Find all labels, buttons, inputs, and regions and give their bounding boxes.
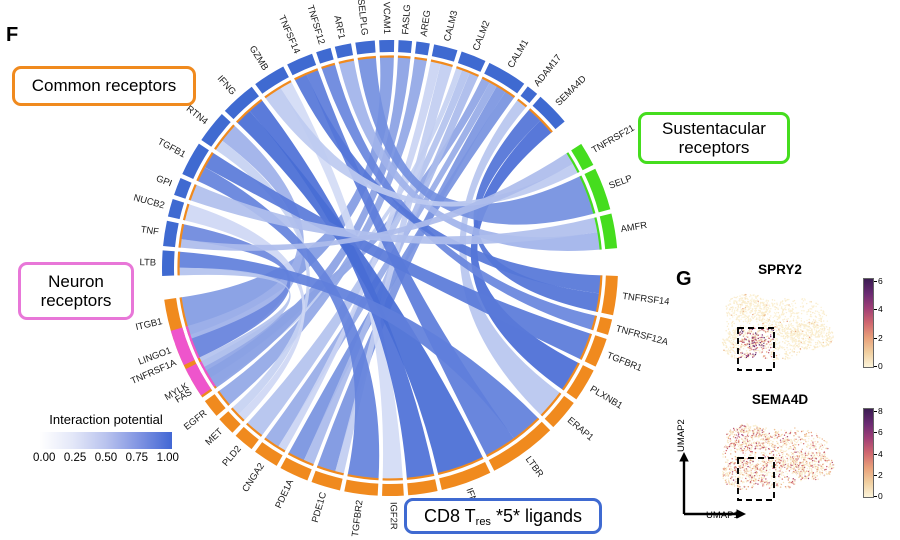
chord-sector-areg[interactable] — [415, 42, 430, 56]
umap-cell-point — [739, 436, 740, 437]
umap-cell-point — [814, 457, 815, 458]
umap-cell-point — [824, 453, 825, 454]
umap-cell-point — [732, 316, 733, 317]
umap-cell-point — [765, 438, 766, 439]
umap-cell-point — [760, 315, 761, 316]
umap-cell-point — [796, 313, 797, 314]
umap-cell-point — [772, 460, 773, 461]
umap-cell-point — [764, 453, 765, 454]
chord-sector-arf1[interactable] — [335, 43, 353, 58]
umap-cell-point — [778, 431, 779, 432]
umap-cell-point — [805, 340, 806, 341]
umap-cell-point — [782, 319, 783, 320]
umap-cell-point — [749, 448, 750, 449]
umap-cell-point — [765, 442, 766, 443]
colorbar-tick: 0 — [878, 361, 883, 371]
umap-cell-point — [818, 340, 819, 341]
umap-cell-point — [744, 301, 745, 302]
umap-cell-point — [825, 471, 826, 472]
umap-cell-point — [754, 302, 755, 303]
umap-cell-point — [817, 304, 818, 305]
umap-cell-point — [794, 432, 795, 433]
umap-cell-point — [804, 457, 805, 458]
umap-cell-point — [759, 430, 760, 431]
umap-cell-point — [833, 467, 834, 468]
umap-cell-point — [788, 299, 789, 300]
umap-cell-point — [816, 331, 817, 332]
umap-cell-point — [778, 348, 779, 349]
umap-cell-point — [831, 468, 832, 469]
umap-cell-point — [804, 435, 805, 436]
umap-cell-point — [775, 323, 776, 324]
umap-cell-point — [750, 344, 751, 345]
umap-cell-point — [795, 456, 796, 457]
umap-cell-point — [802, 430, 803, 431]
umap-cell-point — [822, 339, 823, 340]
umap-cell-point — [813, 319, 814, 320]
umap-cell-point — [787, 485, 788, 486]
umap-cell-point — [785, 486, 786, 487]
umap-cell-point — [776, 303, 777, 304]
umap-cell-point — [734, 355, 735, 356]
umap-cell-point — [730, 314, 731, 315]
umap-cell-point — [813, 447, 814, 448]
colorbar-ticks: 02468 — [874, 408, 898, 496]
umap-cell-point — [765, 322, 766, 323]
umap-cell-point — [788, 328, 789, 329]
chord-sector-adam17[interactable] — [520, 86, 537, 103]
umap-cell-point — [777, 442, 778, 443]
umap-cell-point — [740, 448, 741, 449]
umap-cell-point — [749, 329, 750, 330]
umap-cell-point — [742, 331, 743, 332]
umap-cell-point — [814, 458, 815, 459]
umap-cell-point — [822, 312, 823, 313]
umap-cell-point — [794, 337, 795, 338]
chord-label-areg: AREG — [418, 9, 433, 37]
umap-cell-point — [771, 437, 772, 438]
umap-cell-point — [803, 459, 804, 460]
umap-cell-point — [733, 323, 734, 324]
umap-cell-point — [761, 346, 762, 347]
umap-cell-point — [732, 307, 733, 308]
chord-sector-amfr[interactable] — [600, 214, 617, 250]
umap-cell-point — [728, 436, 729, 437]
umap-cell-point — [769, 317, 770, 318]
umap-cell-point — [781, 452, 782, 453]
umap-cell-point — [748, 339, 749, 340]
umap-cell-point — [733, 339, 734, 340]
umap-cell-point — [807, 455, 808, 456]
umap-cell-point — [796, 340, 797, 341]
umap-cell-point — [723, 339, 724, 340]
umap-cell-point — [732, 330, 733, 331]
umap-cell-point — [801, 469, 802, 470]
umap-cell-point — [810, 332, 811, 333]
umap-cell-point — [792, 442, 793, 443]
umap-cell-point — [779, 459, 780, 460]
umap-cell-point — [812, 441, 813, 442]
umap-cell-point — [798, 344, 799, 345]
umap-cell-point — [731, 314, 732, 315]
umap-cell-point — [789, 326, 790, 327]
umap-cell-point — [743, 354, 744, 355]
umap-cell-point — [787, 433, 788, 434]
umap-cell-point — [734, 332, 735, 333]
callout-ligands: CD8 Tres *5* ligands — [404, 498, 602, 534]
umap-cell-point — [792, 338, 793, 339]
chord-sector-faslg[interactable] — [398, 40, 412, 53]
umap-cell-point — [795, 466, 796, 467]
chord-sector-tnf[interactable] — [163, 221, 179, 247]
umap-cell-point — [794, 449, 795, 450]
chord-sector-tnfrsf12a[interactable] — [597, 317, 613, 335]
umap-cell-point — [773, 488, 774, 489]
umap-cell-point — [775, 331, 776, 332]
umap-cell-point — [819, 331, 820, 332]
umap-cell-point — [745, 327, 746, 328]
umap-cell-point — [775, 464, 776, 465]
umap-cell-point — [756, 434, 757, 435]
umap-cell-point — [757, 312, 758, 313]
umap-cell-point — [811, 432, 812, 433]
umap-cell-point — [763, 447, 764, 448]
umap-cell-point — [778, 334, 779, 335]
umap-cell-point — [783, 313, 784, 314]
umap-cell-point — [740, 325, 741, 326]
umap-cell-point — [798, 444, 799, 445]
umap-cell-point — [775, 482, 776, 483]
umap-cell-point — [787, 441, 788, 442]
chord-inner-band — [380, 55, 394, 57]
umap-cell-point — [821, 331, 822, 332]
umap-cell-point — [825, 441, 826, 442]
umap-cell-point — [746, 438, 747, 439]
umap-cell-point — [794, 464, 795, 465]
umap-cell-point — [750, 307, 751, 308]
chord-sector-tgfbr2[interactable] — [344, 480, 378, 496]
chord-sector-ltb[interactable] — [162, 250, 175, 276]
umap-cell-point — [769, 487, 770, 488]
umap-cell-point — [778, 475, 779, 476]
umap-cell-point — [797, 458, 798, 459]
umap-cell-point — [771, 445, 772, 446]
umap-cell-point — [777, 319, 778, 320]
chord-label-selp: SELP — [607, 172, 633, 191]
umap-cell-point — [741, 329, 742, 330]
umap-cell-point — [754, 328, 755, 329]
umap-cell-point — [786, 334, 787, 335]
umap-cell-point — [746, 426, 747, 427]
umap-cell-point — [763, 452, 764, 453]
umap-cell-point — [806, 478, 807, 479]
umap-cell-point — [785, 437, 786, 438]
umap-cell-point — [819, 464, 820, 465]
umap-cell-point — [795, 439, 796, 440]
chord-label-sema4d: SEMA4D — [553, 73, 588, 108]
umap-cell-point — [827, 320, 828, 321]
umap-cell-point — [758, 341, 759, 342]
umap-cell-point — [738, 345, 739, 346]
umap-cell-point — [793, 331, 794, 332]
ligands-suffix: *5* ligands — [491, 506, 582, 526]
umap-cell-point — [726, 346, 727, 347]
umap-cell-point — [824, 329, 825, 330]
umap-cell-point — [760, 474, 761, 475]
umap-cell-point — [787, 304, 788, 305]
umap-cell-point — [761, 344, 762, 345]
umap-cell-point — [795, 471, 796, 472]
umap-cell-point — [779, 354, 780, 355]
umap-cell-point — [810, 311, 811, 312]
umap-cell-point — [730, 352, 731, 353]
umap-cell-point — [758, 314, 759, 315]
umap-cell-point — [735, 435, 736, 436]
umap-cell-point — [743, 342, 744, 343]
umap-cell-point — [750, 306, 751, 307]
chord-label-tgfbr2: TGFBR2 — [349, 499, 365, 537]
umap-cell-point — [805, 462, 806, 463]
umap-cell-point — [754, 435, 755, 436]
umap-cell-point — [761, 351, 762, 352]
umap-cell-point — [791, 432, 792, 433]
umap-cell-point — [785, 356, 786, 357]
umap-cell-point — [732, 309, 733, 310]
umap-cell-point — [830, 471, 831, 472]
umap-cell-point — [742, 339, 743, 340]
umap-cell-point — [785, 307, 786, 308]
umap-cell-point — [812, 474, 813, 475]
umap-cell-point — [759, 344, 760, 345]
umap-cell-point — [825, 341, 826, 342]
umap-cell-point — [793, 449, 794, 450]
umap-cell-point — [766, 343, 767, 344]
umap-cell-point — [817, 441, 818, 442]
umap-cell-point — [787, 473, 788, 474]
umap-cell-point — [811, 333, 812, 334]
umap-cell-point — [781, 307, 782, 308]
umap-cell-point — [797, 431, 798, 432]
umap-cell-point — [815, 310, 816, 311]
umap-cell-point — [763, 303, 764, 304]
umap-cell-point — [808, 475, 809, 476]
umap-cell-point — [815, 479, 816, 480]
umap-cell-point — [830, 333, 831, 334]
umap-cell-point — [808, 345, 809, 346]
umap-cell-point — [734, 437, 735, 438]
colorbar-spry2: 0246 — [863, 278, 898, 368]
umap-cell-point — [778, 480, 779, 481]
umap-cell-point — [803, 463, 804, 464]
umap-cell-point — [795, 452, 796, 453]
umap-cell-point — [772, 451, 773, 452]
umap-cell-point — [789, 352, 790, 353]
umap-cell-point — [751, 301, 752, 302]
umap-cell-point — [747, 436, 748, 437]
umap-cell-point — [790, 324, 791, 325]
umap-cell-point — [783, 335, 784, 336]
umap-cell-point — [800, 454, 801, 455]
umap-cell-point — [786, 336, 787, 337]
umap-cell-point — [795, 444, 796, 445]
umap-cell-point — [797, 318, 798, 319]
umap-cell-point — [765, 347, 766, 348]
umap-cell-point — [809, 327, 810, 328]
umap-cell-point — [727, 442, 728, 443]
umap-cell-point — [804, 321, 805, 322]
umap-cell-point — [746, 343, 747, 344]
chord-sector-calm3[interactable] — [432, 44, 458, 61]
umap-cell-point — [755, 342, 756, 343]
umap-cell-point — [812, 443, 813, 444]
umap-cell-point — [730, 440, 731, 441]
umap-cell-point — [790, 469, 791, 470]
umap-cell-point — [791, 335, 792, 336]
umap-cell-point — [779, 477, 780, 478]
chord-label-tgfb1: TGFB1 — [156, 135, 188, 159]
chord-label-gpi: GPI — [155, 172, 174, 188]
umap-cell-point — [740, 345, 741, 346]
umap-cell-point — [738, 446, 739, 447]
umap-cell-point — [811, 329, 812, 330]
umap-cell-point — [762, 325, 763, 326]
umap-cell-point — [801, 431, 802, 432]
umap-cell-point — [809, 301, 810, 302]
chord-sector-igf2r[interactable] — [382, 484, 404, 496]
umap-cell-point — [766, 461, 767, 462]
umap-cell-point — [772, 338, 773, 339]
umap-cell-point — [736, 302, 737, 303]
umap-cell-point — [733, 341, 734, 342]
umap-cell-point — [739, 295, 740, 296]
legend-tick: 0.25 — [64, 452, 86, 464]
umap-cell-point — [758, 318, 759, 319]
umap-cell-point — [817, 464, 818, 465]
umap-cell-point — [795, 343, 796, 344]
umap-cell-point — [775, 338, 776, 339]
umap-cell-point — [745, 321, 746, 322]
umap-cell-point — [823, 467, 824, 468]
umap-cell-point — [815, 342, 816, 343]
umap-cell-point — [722, 342, 723, 343]
umap-cell-point — [822, 324, 823, 325]
umap-cell-point — [804, 343, 805, 344]
umap-cell-point — [767, 436, 768, 437]
umap-cell-point — [750, 318, 751, 319]
umap-cell-point — [769, 463, 770, 464]
umap-cell-point — [828, 460, 829, 461]
umap-cell-point — [790, 344, 791, 345]
umap-cell-point — [802, 449, 803, 450]
umap-cell-point — [819, 326, 820, 327]
umap-cell-point — [808, 432, 809, 433]
umap-cell-point — [735, 431, 736, 432]
chord-sector-gpi[interactable] — [174, 178, 191, 199]
umap-cell-point — [814, 454, 815, 455]
umap-cell-point — [737, 315, 738, 316]
umap-cell-point — [786, 347, 787, 348]
umap-cell-point — [772, 444, 773, 445]
umap-cell-point — [799, 462, 800, 463]
umap-cell-point — [825, 458, 826, 459]
umap-cell-point — [813, 475, 814, 476]
umap-cell-point — [748, 315, 749, 316]
umap-cell-point — [794, 471, 795, 472]
umap-cell-point — [817, 472, 818, 473]
umap-cell-point — [755, 300, 756, 301]
umap-cell-point — [791, 303, 792, 304]
umap-cell-point — [822, 454, 823, 455]
umap-cell-point — [796, 322, 797, 323]
umap-cell-point — [731, 349, 732, 350]
umap-cell-point — [804, 335, 805, 336]
umap-cell-point — [738, 306, 739, 307]
chord-sector-tnfsf12[interactable] — [316, 48, 334, 64]
umap-cell-point — [743, 425, 744, 426]
umap-cell-point — [745, 436, 746, 437]
umap-cell-point — [829, 468, 830, 469]
chord-sector-vcam1[interactable] — [379, 40, 394, 52]
umap-cell-point — [806, 334, 807, 335]
umap-title-spry2: SPRY2 — [700, 262, 860, 277]
umap-cell-point — [827, 329, 828, 330]
umap-cell-point — [754, 335, 755, 336]
umap-cell-point — [772, 299, 773, 300]
umap-cell-point — [817, 479, 818, 480]
umap-cell-point — [798, 476, 799, 477]
umap-cell-point — [806, 464, 807, 465]
umap-cell-point — [783, 464, 784, 465]
chord-sector-selplg[interactable] — [355, 41, 375, 55]
umap-cell-point — [765, 311, 766, 312]
umap-cell-point — [788, 324, 789, 325]
umap-cell-point — [757, 299, 758, 300]
chord-sector-tnfrsf14[interactable] — [601, 276, 618, 316]
umap-cell-point — [755, 340, 756, 341]
umap-cell-point — [794, 467, 795, 468]
umap-cell-point — [769, 311, 770, 312]
umap-cell-point — [800, 330, 801, 331]
umap-cell-point — [785, 358, 786, 359]
umap-cell-point — [746, 298, 747, 299]
umap-cell-point — [820, 310, 821, 311]
chord-sector-nucb2[interactable] — [168, 199, 184, 219]
umap-cell-point — [763, 436, 764, 437]
umap-cell-point — [741, 444, 742, 445]
umap-cell-point — [803, 468, 804, 469]
chord-sector-ifngr1[interactable] — [407, 479, 437, 495]
umap-cell-point — [751, 437, 752, 438]
umap-cell-point — [761, 467, 762, 468]
umap-cell-point — [771, 484, 772, 485]
umap-cell-point — [754, 429, 755, 430]
umap-cell-point — [757, 295, 758, 296]
umap-cell-point — [742, 342, 743, 343]
umap-cell-point — [776, 441, 777, 442]
umap-cell-point — [770, 325, 771, 326]
umap-cell-point — [784, 298, 785, 299]
umap-cell-point — [811, 478, 812, 479]
umap-cell-point — [755, 297, 756, 298]
umap-cell-point — [742, 313, 743, 314]
umap-cell-point — [726, 350, 727, 351]
legend-tick: 0.75 — [126, 452, 148, 464]
umap-cell-point — [766, 468, 767, 469]
umap-cell-point — [821, 472, 822, 473]
umap-cell-point — [741, 434, 742, 435]
umap-cell-point — [815, 327, 816, 328]
umap-cell-point — [811, 471, 812, 472]
